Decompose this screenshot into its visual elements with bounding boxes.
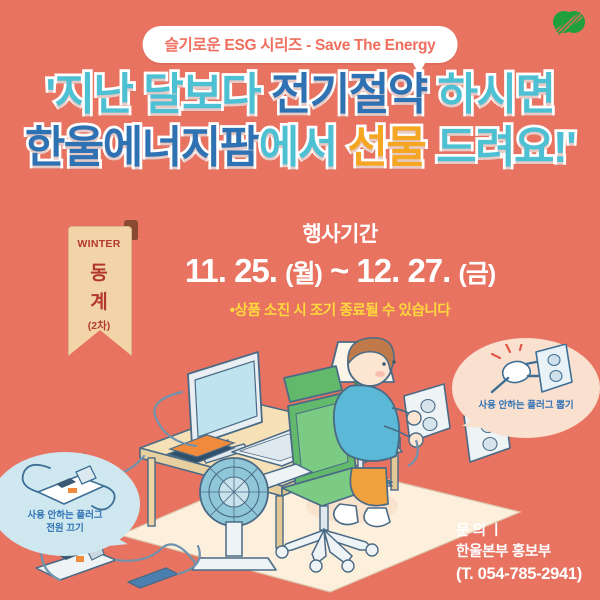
- headline-seg-4: 한울에너지팜: [25, 123, 259, 172]
- event-period-dates: 11. 25. (월) ~ 12. 27. (금): [140, 252, 540, 290]
- headline-seg-7: 드려요!': [425, 123, 575, 172]
- power-strip-icon: [12, 462, 122, 514]
- contact-department: 한울본부 홍보부: [456, 542, 582, 563]
- event-period-note: •상품 소진 시 조기 종료될 수 있습니다: [140, 299, 540, 320]
- headline-seg-3: 하시면: [427, 70, 555, 119]
- headline-seg-5: 에서: [259, 123, 348, 172]
- contact-info: 문 의 ㅣ 한울본부 홍보부 (T. 054-785-2941): [456, 521, 582, 586]
- poster-root: 슬기로운 ESG 시리즈 - Save The Energy '지난 달보다 전…: [0, 0, 600, 600]
- series-badge-text: 슬기로운 ESG 시리즈 - Save The Energy: [165, 37, 436, 54]
- tip-right-line-1: 사용 안하는 플러그 뽑기: [458, 400, 594, 412]
- tip-bubble-left: 사용 안하는 플러그 전원 끄기: [0, 452, 142, 564]
- smartphone: [128, 568, 178, 588]
- end-date: 12. 27.: [356, 252, 450, 289]
- brand-logo: [552, 8, 586, 36]
- tip-bubble-left-text: 사용 안하는 플러그 전원 끄기: [0, 510, 130, 536]
- ribbon-season-en: WINTER: [77, 238, 120, 250]
- tip-bubble-right: 사용 안하는 플러그 뽑기: [452, 338, 600, 448]
- end-day: (금): [459, 260, 496, 288]
- headline-seg-1: '지난 달보다: [46, 70, 271, 119]
- event-period-block: 행사기간 11. 25. (월) ~ 12. 27. (금) •상품 소진 시 …: [140, 218, 540, 320]
- ribbon-kr-char-1: 동: [90, 258, 107, 285]
- start-day: (월): [285, 260, 322, 288]
- tip-bubble-right-text: 사용 안하는 플러그 뽑기: [458, 400, 594, 412]
- date-separator: ~: [330, 252, 348, 289]
- ribbon-kr-char-2: 계: [90, 287, 107, 314]
- contact-label: 문 의 ㅣ: [456, 521, 582, 542]
- start-date: 11. 25.: [185, 252, 277, 289]
- headline: '지난 달보다 전기절약 하시면 한울에너지팜에서 선물 드려요!': [0, 72, 600, 171]
- headline-seg-6: 선물: [347, 123, 425, 172]
- headline-line-1: '지난 달보다 전기절약 하시면: [0, 72, 600, 119]
- headline-line-2: 한울에너지팜에서 선물 드려요!': [0, 125, 600, 172]
- unplug-outlet-icon: [474, 344, 580, 400]
- event-period-title: 행사기간: [140, 218, 540, 248]
- tip-left-line-2: 전원 끄기: [0, 523, 130, 536]
- contact-phone: (T. 054-785-2941): [456, 563, 582, 586]
- tip-left-line-1: 사용 안하는 플러그: [0, 510, 130, 523]
- headline-seg-2: 전기절약: [271, 70, 427, 119]
